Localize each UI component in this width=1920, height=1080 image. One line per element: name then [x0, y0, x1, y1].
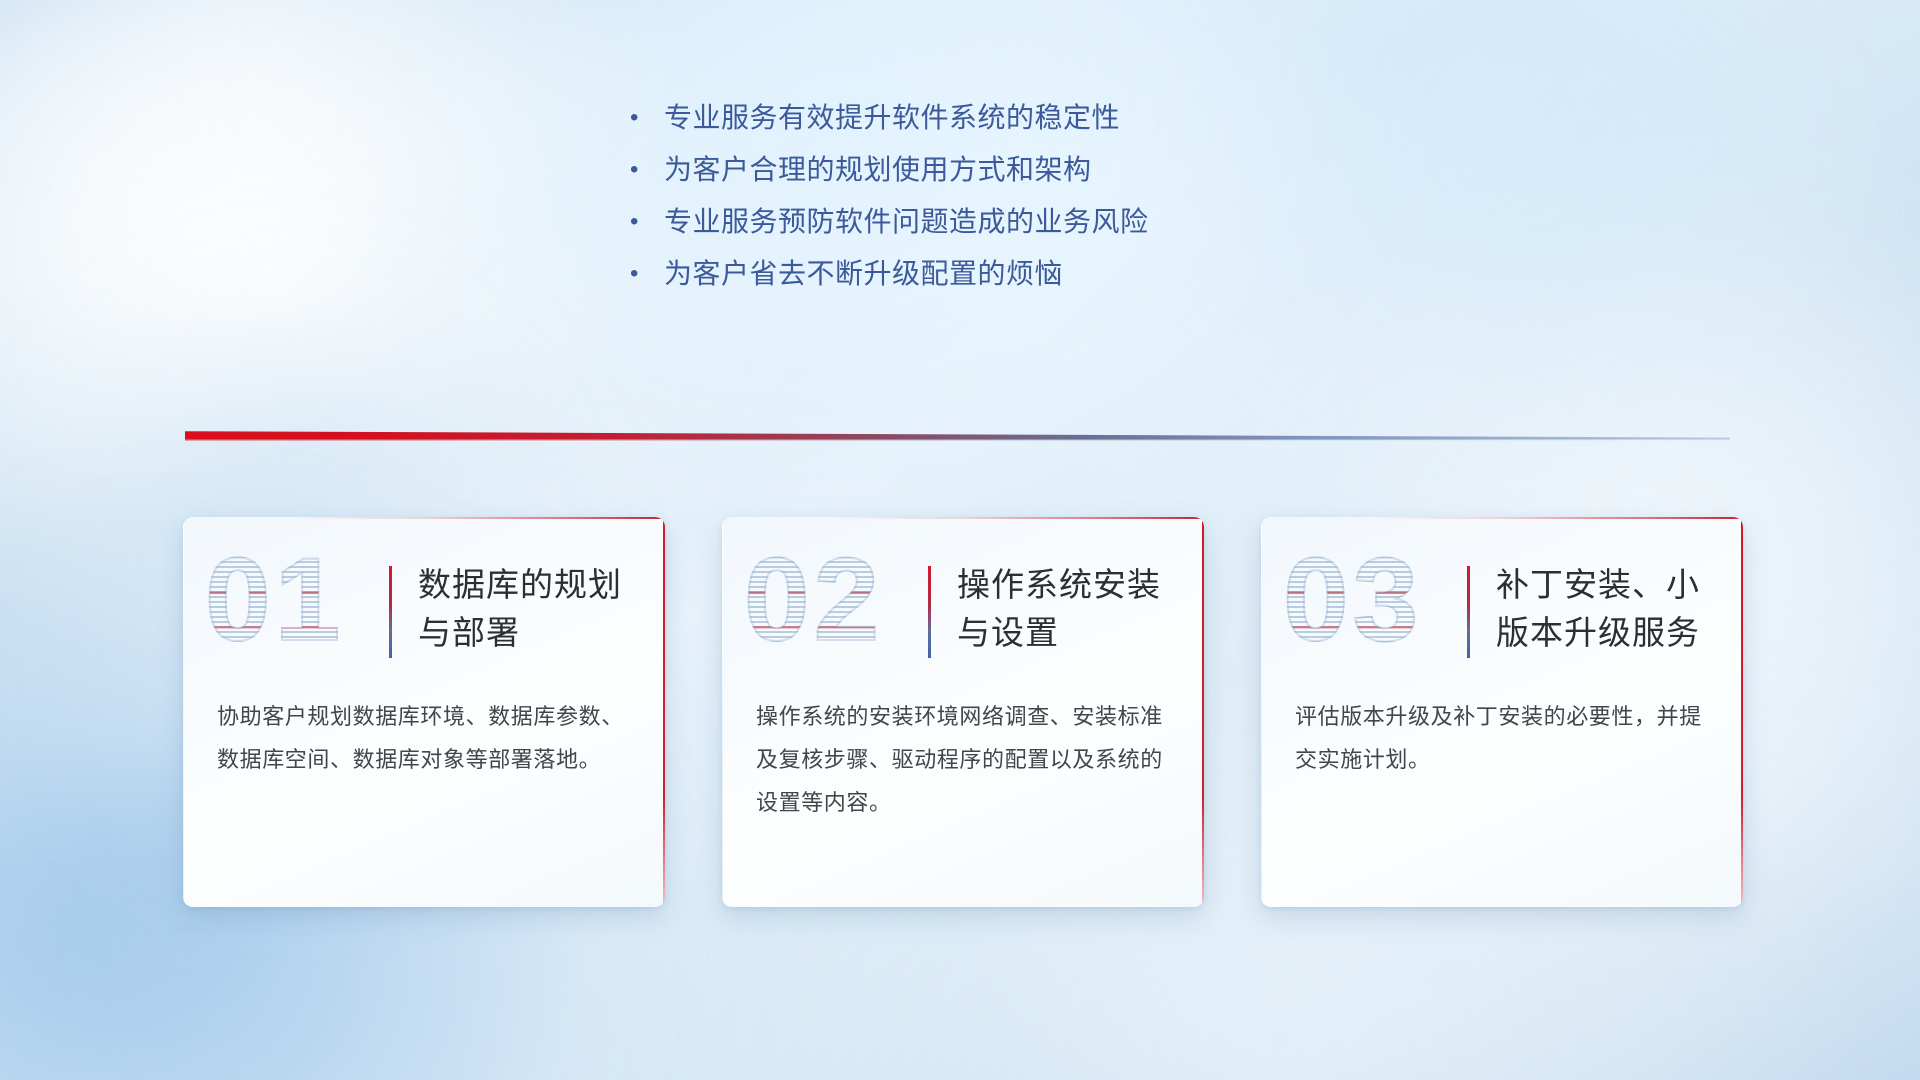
card-title: 操作系统安装 与设置: [957, 561, 1161, 657]
bullet-marker-icon: •: [630, 196, 664, 248]
bullet-text: 为客户合理的规划使用方式和架构: [664, 144, 1092, 196]
card-body-text: 协助客户规划数据库环境、数据库参数、数据库空间、数据库对象等部署落地。: [183, 695, 665, 781]
card-number-watermark: 01: [205, 541, 344, 659]
background-light-streak-upper: [0, 0, 665, 351]
card-header: 01 01 数据库的规划 与部署: [183, 517, 665, 695]
card-title-rule: [1467, 566, 1470, 658]
service-cards: 01 01 数据库的规划 与部署 协助客户规划数据库环境、数据库参数、数据库空间…: [183, 517, 1743, 917]
card-header: 03 03 补丁安装、小 版本升级服务: [1261, 517, 1743, 695]
bullet-marker-icon: •: [630, 92, 664, 144]
benefits-bullet-list: • 专业服务有效提升软件系统的稳定性 • 为客户合理的规划使用方式和架构 • 专…: [630, 92, 1390, 300]
background-glow-top-left: [0, 0, 640, 560]
card-number-watermark: 02: [744, 541, 883, 659]
bullet-marker-icon: •: [630, 144, 664, 196]
list-item: • 专业服务有效提升软件系统的稳定性: [630, 92, 1390, 144]
service-card[interactable]: 03 03 补丁安装、小 版本升级服务 评估版本升级及补丁安装的必要性，并提交实…: [1261, 517, 1743, 907]
slide-canvas: • 专业服务有效提升软件系统的稳定性 • 为客户合理的规划使用方式和架构 • 专…: [0, 0, 1920, 1080]
service-card[interactable]: 02 02 操作系统安装 与设置 操作系统的安装环境网络调查、安装标准及复核步骤…: [722, 517, 1204, 907]
bullet-text: 专业服务预防软件问题造成的业务风险: [664, 196, 1149, 248]
card-title-block: 数据库的规划 与部署: [389, 561, 622, 658]
card-body-text: 操作系统的安装环境网络调查、安装标准及复核步骤、驱动程序的配置以及系统的设置等内…: [722, 695, 1204, 824]
card-body-text: 评估版本升级及补丁安装的必要性，并提交实施计划。: [1261, 695, 1743, 781]
list-item: • 为客户合理的规划使用方式和架构: [630, 144, 1390, 196]
card-title-rule: [389, 566, 392, 658]
bullet-text: 专业服务有效提升软件系统的稳定性: [664, 92, 1120, 144]
list-item: • 专业服务预防软件问题造成的业务风险: [630, 196, 1390, 248]
section-divider: [185, 430, 1730, 448]
bullet-marker-icon: •: [630, 248, 664, 300]
list-item: • 为客户省去不断升级配置的烦恼: [630, 248, 1390, 300]
bullet-text: 为客户省去不断升级配置的烦恼: [664, 248, 1063, 300]
card-header: 02 02 操作系统安装 与设置: [722, 517, 1204, 695]
card-number-watermark: 03: [1283, 541, 1422, 659]
card-title-block: 补丁安装、小 版本升级服务: [1467, 561, 1700, 658]
card-title-rule: [928, 566, 931, 658]
card-title-block: 操作系统安装 与设置: [928, 561, 1161, 658]
service-card[interactable]: 01 01 数据库的规划 与部署 协助客户规划数据库环境、数据库参数、数据库空间…: [183, 517, 665, 907]
card-title: 补丁安装、小 版本升级服务: [1496, 561, 1700, 657]
card-title: 数据库的规划 与部署: [418, 561, 622, 657]
